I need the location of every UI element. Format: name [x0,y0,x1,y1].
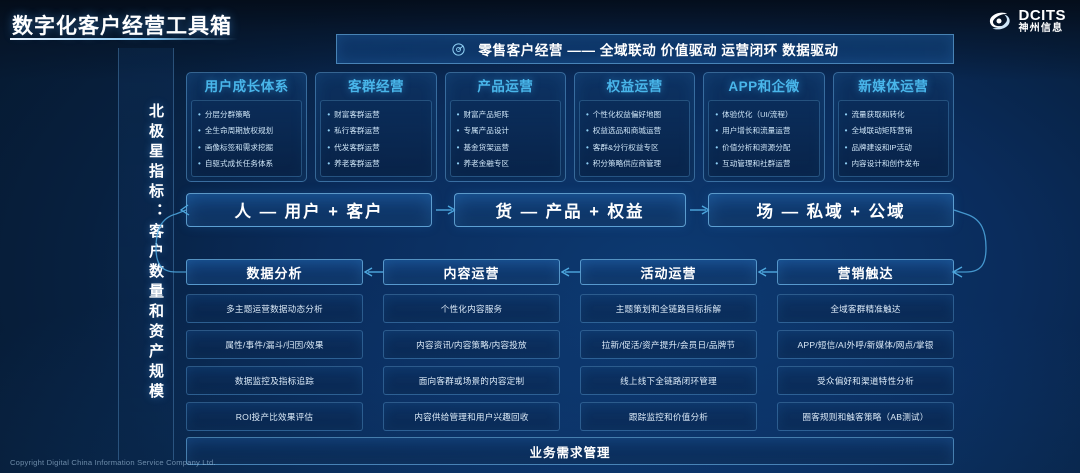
card-item: •品牌建设和IP活动 [845,142,944,153]
header-marketing-reach[interactable]: 营销触达 [777,259,954,285]
card-title: 客群经营 [320,78,431,96]
card-body: •分层分群策略 •全生命周期放权规划 •画像标签和需求挖掘 •自驱式成长任务体系 [191,100,302,177]
phase-row: 人 — 用户 + 客户 货 — 产品 + 权益 场 — 私域 + 公域 [186,193,954,227]
grid-cell[interactable]: 内容供给管理和用户兴趣回收 [383,402,560,431]
copyright-text: Copyright Digital China Information Serv… [10,458,216,467]
card-body: •个性化权益偏好地图 •权益选品和商城运营 •客群&分行权益专区 •积分策略供应… [579,100,690,177]
arrow-left-icon [758,266,778,278]
grid-cell[interactable]: 数据监控及指标追踪 [186,366,363,395]
bullet-icon: • [586,158,589,169]
bullet-icon: • [457,125,460,136]
title-underline [10,38,238,40]
bullet-icon: • [586,125,589,136]
grid-cell[interactable]: 线上线下全链路闭环管理 [580,366,757,395]
card-item: •私行客群运营 [327,125,426,136]
header-label: 数据分析 [246,263,302,282]
bullet-icon: • [457,109,460,120]
card-item-label: 全域联动矩阵营销 [851,125,912,136]
grid-cell[interactable]: 个性化内容服务 [383,294,560,323]
bullet-icon: • [715,125,718,136]
grid-cell[interactable]: 内容资讯/内容策略/内容投放 [383,330,560,359]
card-item: •养老客群运营 [327,158,426,169]
card-item-label: 分层分群策略 [205,109,251,120]
header-label: 内容运营 [443,263,499,282]
card-title: 权益运营 [579,78,690,96]
header-content-ops[interactable]: 内容运营 [383,259,560,285]
card-item: •用户增长和流量运营 [715,125,814,136]
bullet-icon: • [327,158,330,169]
bullet-icon: • [198,158,201,169]
arrow-left-icon [364,266,384,278]
card-item-label: 互动管理和社群运营 [722,158,790,169]
grid-cell[interactable]: 全域客群精准触达 [777,294,954,323]
retail-target-icon [451,42,466,57]
arrow-left-icon [561,266,581,278]
card-item-label: 流量获取和转化 [851,109,904,120]
card-item: •互动管理和社群运营 [715,158,814,169]
bullet-icon: • [715,142,718,153]
header-label: 营销触达 [837,263,893,282]
card-item: •财富客群运营 [327,109,426,120]
card-item-label: 画像标签和需求挖掘 [205,142,273,153]
card-item: •全生命周期放权规划 [198,125,297,136]
card-item-label: 个性化权益偏好地图 [593,109,661,120]
card-title: 产品运营 [450,78,561,96]
card-item: •专属产品设计 [457,125,556,136]
bullet-icon: • [845,142,848,153]
phase-people[interactable]: 人 — 用户 + 客户 [186,193,432,227]
grid-cell[interactable]: 拉新/促活/资产提升/会员日/品牌节 [580,330,757,359]
logo-en-text: DCITS [1019,8,1067,23]
capability-card-new-media[interactable]: 新媒体运营 •流量获取和转化 •全域联动矩阵营销 •品牌建设和IP活动 •内容设… [833,72,954,182]
grid-column-marketing-reach: 全域客群精准触达 APP/短信/AI外呼/新媒体/网点/掌银 受众偏好和渠道特性… [777,294,954,431]
bullet-icon: • [457,158,460,169]
bullet-icon: • [845,109,848,120]
card-item: •画像标签和需求挖掘 [198,142,297,153]
operation-headers: 数据分析 内容运营 活动运营 营销触达 [186,259,954,285]
grid-cell[interactable]: 多主题运营数据动态分析 [186,294,363,323]
card-item: •价值分析和资源分配 [715,142,814,153]
operation-grid: 多主题运营数据动态分析 属性/事件/漏斗/归因/效果 数据监控及指标追踪 ROI… [186,294,954,428]
header-data-analysis[interactable]: 数据分析 [186,259,363,285]
phase-field[interactable]: 场 — 私域 + 公域 [708,193,954,227]
card-item-label: 私行客群运营 [334,125,380,136]
grid-cell[interactable]: 受众偏好和渠道特性分析 [777,366,954,395]
card-item-label: 体验优化（UI/流程） [722,109,792,120]
card-item-label: 自驱式成长任务体系 [205,158,273,169]
card-item: •积分策略供应商管理 [586,158,685,169]
card-item: •财富产品矩阵 [457,109,556,120]
card-item-label: 专属产品设计 [463,125,509,136]
card-item-label: 权益选品和商城运营 [593,125,661,136]
card-item: •个性化权益偏好地图 [586,109,685,120]
bullet-icon: • [586,142,589,153]
card-item-label: 用户增长和流量运营 [722,125,790,136]
grid-cell[interactable]: APP/短信/AI外呼/新媒体/网点/掌银 [777,330,954,359]
page-title: 数字化客户经营工具箱 [12,10,232,40]
grid-column-data-analysis: 多主题运营数据动态分析 属性/事件/漏斗/归因/效果 数据监控及指标追踪 ROI… [186,294,363,431]
card-item-label: 基金货架运营 [463,142,509,153]
retail-banner: 零售客户经营 —— 全域联动 价值驱动 运营闭环 数据驱动 [336,34,954,64]
bullet-icon: • [327,109,330,120]
grid-cell[interactable]: 属性/事件/漏斗/归因/效果 [186,330,363,359]
card-item-label: 财富产品矩阵 [463,109,509,120]
north-star-metric-label: 北极星指标：客户数量和资产规模 [126,88,166,418]
card-title: APP和企微 [708,78,819,96]
card-item-label: 内容设计和创作发布 [851,158,919,169]
phase-label: 货 — 产品 + 权益 [496,198,645,222]
header-label: 活动运营 [640,263,696,282]
card-item: •养老金融专区 [457,158,556,169]
bullet-icon: • [198,142,201,153]
card-item: •体验优化（UI/流程） [715,109,814,120]
grid-cell[interactable]: 圈客规则和触客策略（AB测试） [777,402,954,431]
grid-cell[interactable]: 面向客群或场景的内容定制 [383,366,560,395]
card-item: •自驱式成长任务体系 [198,158,297,169]
capability-card-product[interactable]: 产品运营 •财富产品矩阵 •专属产品设计 •基金货架运营 •养老金融专区 [445,72,566,182]
card-item-label: 养老客群运营 [334,158,380,169]
bottom-bar-label: 业务需求管理 [529,442,610,461]
capability-card-customer-group[interactable]: 客群经营 •财富客群运营 •私行客群运营 •代发客群运营 •养老客群运营 [315,72,436,182]
card-item: •全域联动矩阵营销 [845,125,944,136]
slide-canvas: 数字化客户经营工具箱 DCITS 神州信息 北极星指标：客户数量和资产规模 零售… [0,0,1080,473]
phase-goods[interactable]: 货 — 产品 + 权益 [454,193,686,227]
card-item: •代发客群运营 [327,142,426,153]
grid-cell[interactable]: ROI投产比效果评估 [186,402,363,431]
card-item: •流量获取和转化 [845,109,944,120]
grid-column-campaign-ops: 主题策划和全链路目标拆解 拉新/促活/资产提升/会员日/品牌节 线上线下全链路闭… [580,294,757,431]
card-body: •体验优化（UI/流程） •用户增长和流量运营 •价值分析和资源分配 •互动管理… [708,100,819,177]
banner-text: 零售客户经营 —— 全域联动 价值驱动 运营闭环 数据驱动 [478,39,838,59]
card-item: •权益选品和商城运营 [586,125,685,136]
card-item: •客群&分行权益专区 [586,142,685,153]
card-item-label: 品牌建设和IP活动 [851,142,911,153]
brand-logo: DCITS 神州信息 [986,8,1067,34]
card-item-label: 价值分析和资源分配 [722,142,790,153]
bullet-icon: • [586,109,589,120]
card-item-label: 全生命周期放权规划 [205,125,273,136]
capability-card-user-growth[interactable]: 用户成长体系 •分层分群策略 •全生命周期放权规划 •画像标签和需求挖掘 •自驱… [186,72,307,182]
bullet-icon: • [457,142,460,153]
bullet-icon: • [845,125,848,136]
card-item-label: 积分策略供应商管理 [593,158,661,169]
card-body: •流量获取和转化 •全域联动矩阵营销 •品牌建设和IP活动 •内容设计和创作发布 [838,100,949,177]
bullet-icon: • [327,125,330,136]
card-item: •基金货架运营 [457,142,556,153]
capability-cards: 用户成长体系 •分层分群策略 •全生命周期放权规划 •画像标签和需求挖掘 •自驱… [186,72,954,182]
business-requirement-bar[interactable]: 业务需求管理 [186,437,954,465]
dcits-swirl-logo-icon [986,8,1012,34]
card-item-label: 财富客群运营 [334,109,380,120]
card-item-label: 养老金融专区 [463,158,509,169]
card-item-label: 客群&分行权益专区 [593,142,659,153]
grid-cell[interactable]: 主题策划和全链路目标拆解 [580,294,757,323]
capability-card-app-wecom[interactable]: APP和企微 •体验优化（UI/流程） •用户增长和流量运营 •价值分析和资源分… [703,72,824,182]
arc-right [954,210,986,272]
bullet-icon: • [327,142,330,153]
card-item: •分层分群策略 [198,109,297,120]
bullet-icon: • [198,109,201,120]
capability-card-benefits[interactable]: 权益运营 •个性化权益偏好地图 •权益选品和商城运营 •客群&分行权益专区 •积… [574,72,695,182]
card-title: 新媒体运营 [838,78,949,96]
card-item-label: 代发客群运营 [334,142,380,153]
bullet-icon: • [715,109,718,120]
card-body: •财富产品矩阵 •专属产品设计 •基金货架运营 •养老金融专区 [450,100,561,177]
card-item: •内容设计和创作发布 [845,158,944,169]
header-campaign-ops[interactable]: 活动运营 [580,259,757,285]
card-title: 用户成长体系 [191,78,302,96]
grid-cell[interactable]: 跟踪监控和价值分析 [580,402,757,431]
logo-cn-text: 神州信息 [1019,24,1067,34]
bullet-icon: • [845,158,848,169]
bullet-icon: • [198,125,201,136]
bullet-icon: • [715,158,718,169]
grid-column-content-ops: 个性化内容服务 内容资讯/内容策略/内容投放 面向客群或场景的内容定制 内容供给… [383,294,560,431]
card-body: •财富客群运营 •私行客群运营 •代发客群运营 •养老客群运营 [320,100,431,177]
arrow-head-right-icon [953,267,962,277]
phase-label: 人 — 用户 + 客户 [235,198,384,222]
phase-label: 场 — 私域 + 公域 [757,198,906,222]
